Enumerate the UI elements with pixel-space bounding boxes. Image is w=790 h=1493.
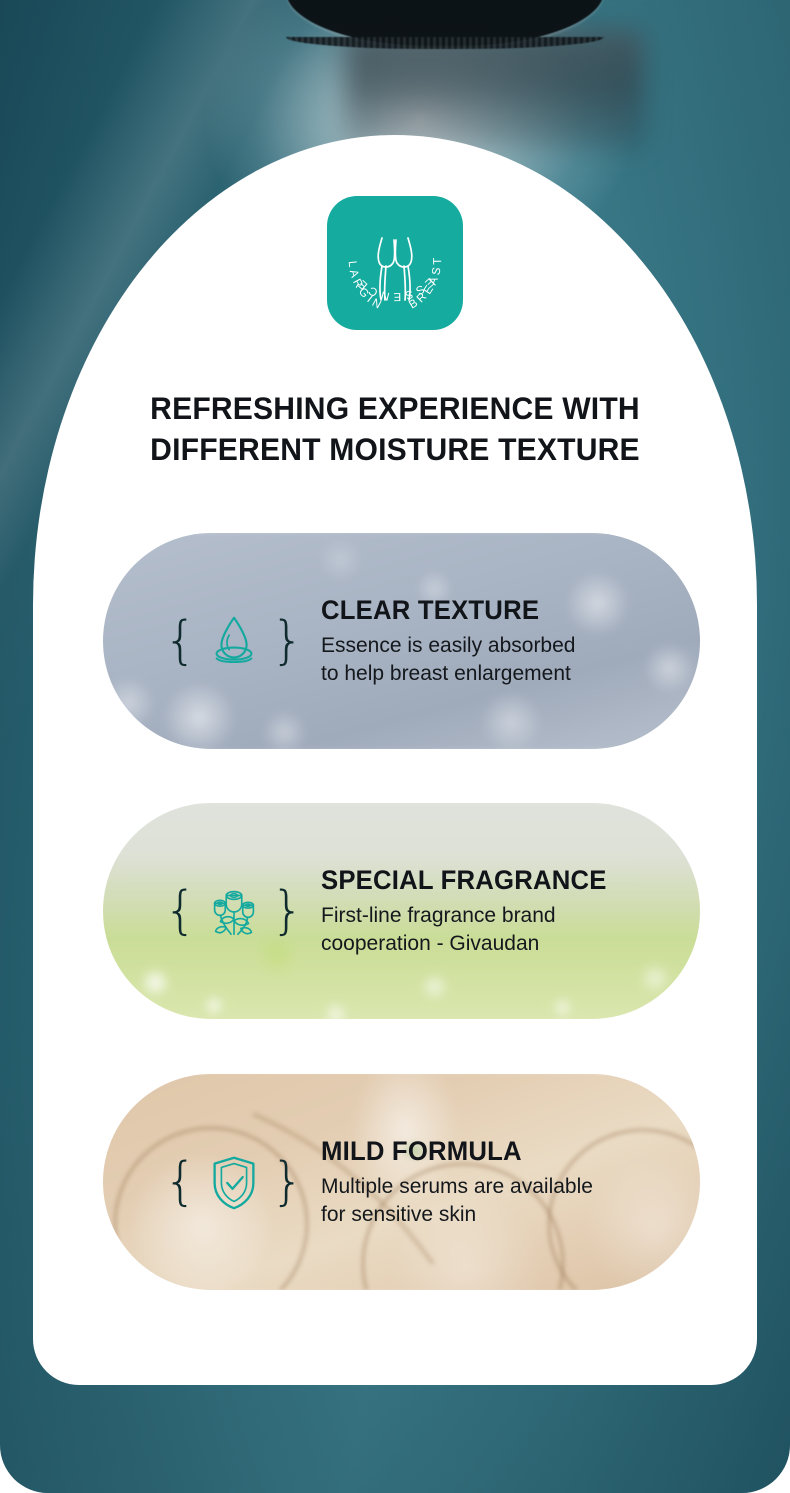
brace-right: } <box>271 615 304 667</box>
feature-card-special-fragrance[interactable]: { <box>103 803 700 1019</box>
product-feature-poster: ESSENCE ENLARGING BREAST <box>0 0 790 1493</box>
brace-right: } <box>271 885 304 937</box>
logo-tile: ESSENCE ENLARGING BREAST <box>327 196 463 330</box>
brace-right: } <box>271 1156 304 1208</box>
card-icon-group: { } <box>153 1151 315 1213</box>
roses-icon <box>203 880 265 942</box>
brace-left: { <box>164 615 197 667</box>
card-text-group: CLEAR TEXTURE Essence is easily absorbed… <box>321 595 575 688</box>
page-title: REFRESHING EXPERIENCE WITH DIFFERENT MOI… <box>18 388 772 470</box>
page-title-line1: REFRESHING EXPERIENCE WITH <box>18 388 772 429</box>
feature-card-clear-texture[interactable]: { } CLEAR TEXTURE Essence is easily abso… <box>103 533 700 749</box>
breast-outline-icon: ESSENCE ENLARGING BREAST <box>327 196 463 330</box>
card-description: Essence is easily absorbed to help breas… <box>321 632 575 688</box>
card-heading: CLEAR TEXTURE <box>321 595 568 626</box>
svg-text:ENLARGING: ENLARGING <box>327 196 386 313</box>
brand-logo: ESSENCE ENLARGING BREAST <box>327 196 463 330</box>
feature-card-mild-formula[interactable]: { } MILD FORMULA Multiple serums are ava… <box>103 1074 700 1290</box>
card-icon-group: { <box>153 880 315 942</box>
shield-check-icon <box>203 1151 265 1213</box>
card-text-group: SPECIAL FRAGRANCE First-line fragrance b… <box>321 865 615 958</box>
brace-left: { <box>164 1156 197 1208</box>
card-heading: SPECIAL FRAGRANCE <box>321 865 607 896</box>
card-heading: MILD FORMULA <box>321 1136 585 1167</box>
water-droplet-icon <box>203 610 265 672</box>
brace-left: { <box>164 885 197 937</box>
card-description: Multiple serums are available for sensit… <box>321 1173 593 1229</box>
card-description: First-line fragrance brand cooperation -… <box>321 902 615 958</box>
card-text-group: MILD FORMULA Multiple serums are availab… <box>321 1136 593 1229</box>
card-icon-group: { } <box>153 610 315 672</box>
page-title-line2: DIFFERENT MOISTURE TEXTURE <box>18 429 772 470</box>
